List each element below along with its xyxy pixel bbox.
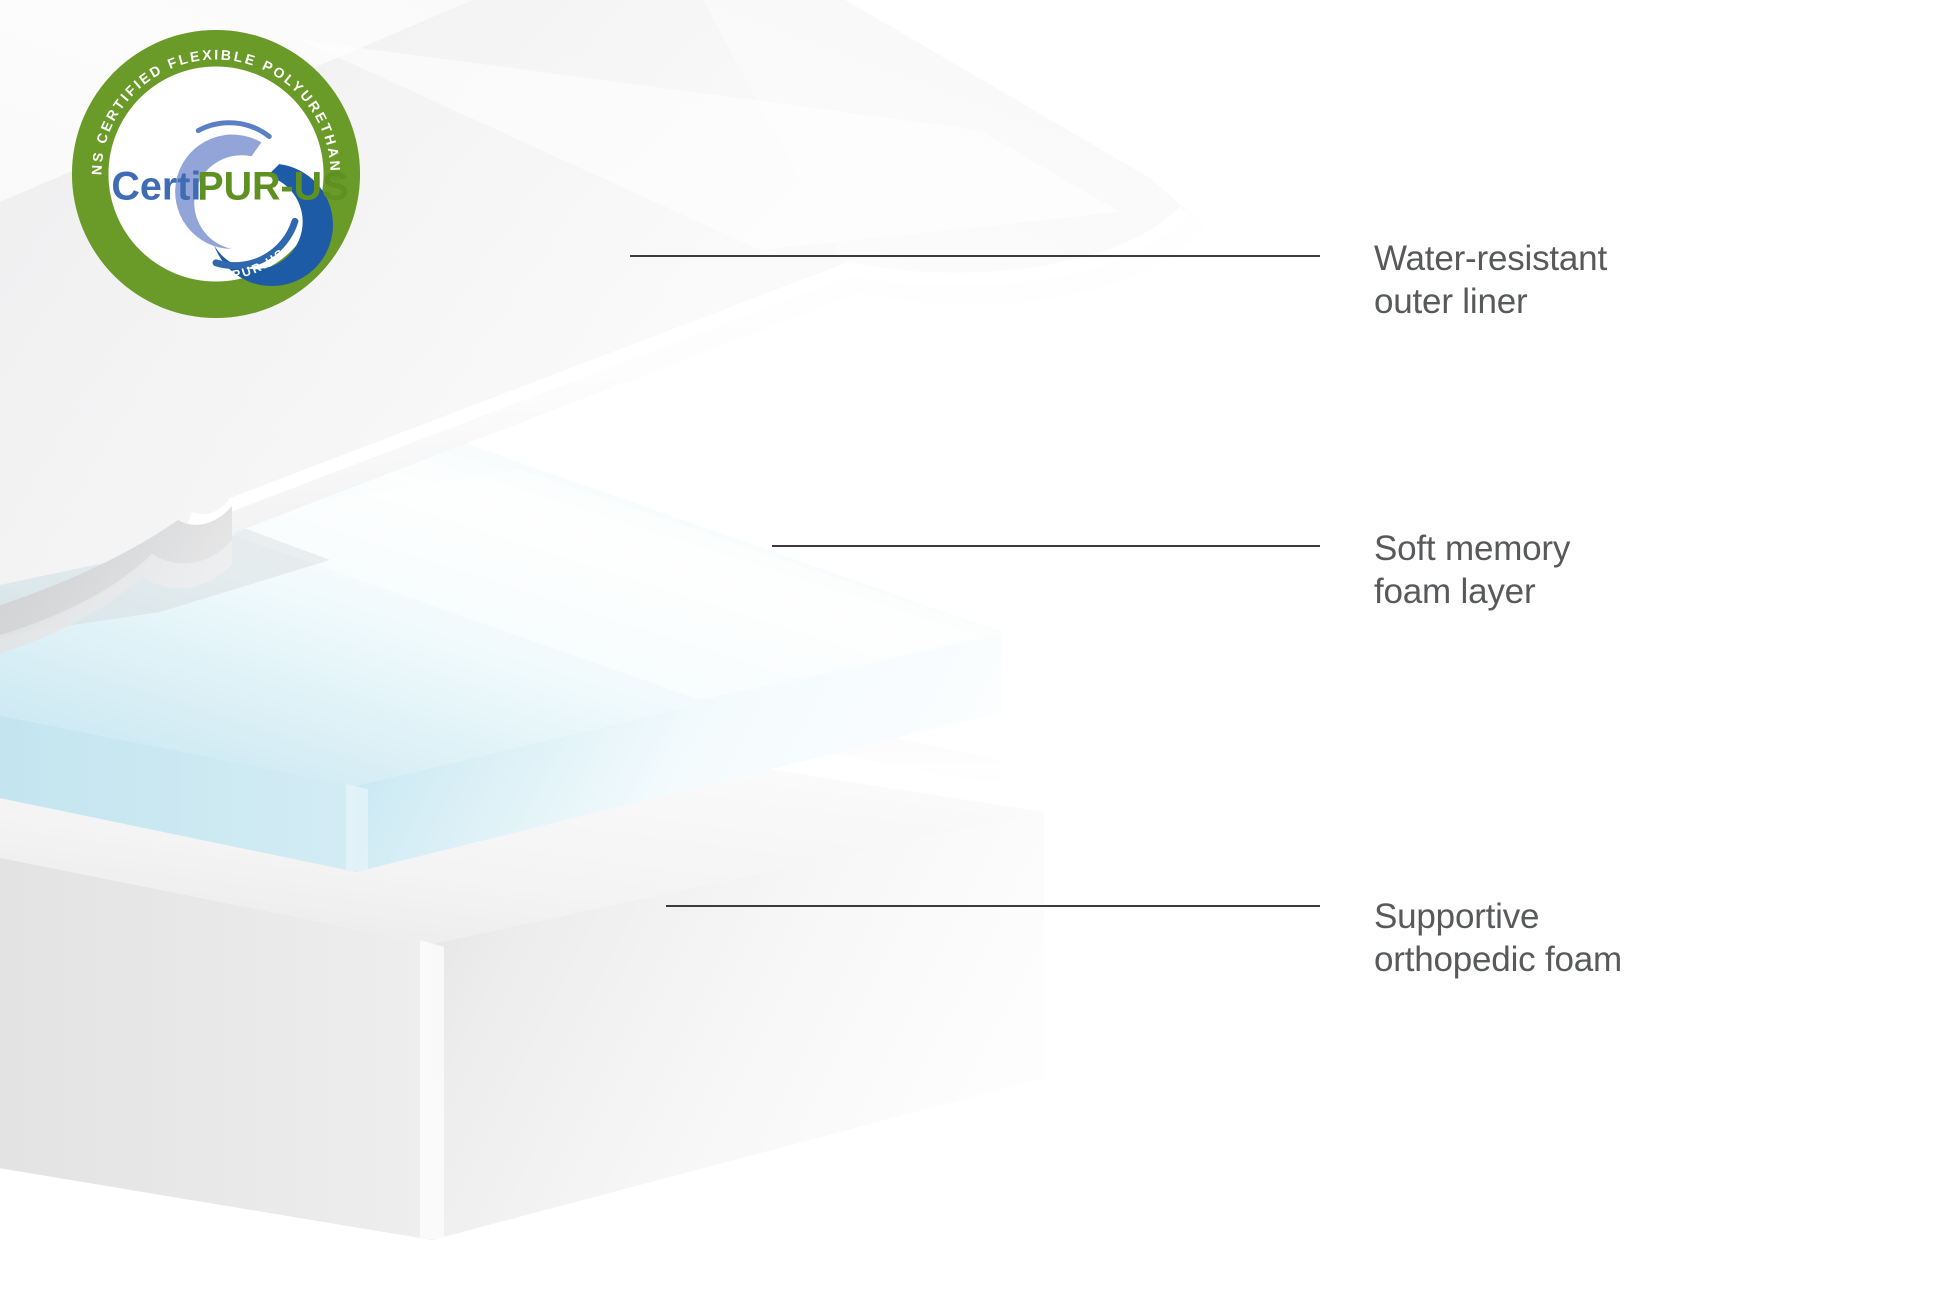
orthopedic-foam-corner-highlight bbox=[420, 940, 444, 1240]
certipur-us-seal: Certi PUR-US ® CONTAINS CERTIFIED FLEXIB… bbox=[68, 26, 364, 322]
seal-wordmark: Certi PUR-US ® bbox=[111, 165, 348, 209]
callout-label-supportive-orthopedic-foam: Supportive orthopedic foam bbox=[1374, 896, 1622, 981]
diagram-canvas: Certi PUR-US ® CONTAINS CERTIFIED FLEXIB… bbox=[0, 0, 1946, 1298]
callout-label-water-resistant-outer-liner: Water-resistant outer liner bbox=[1374, 238, 1607, 323]
seal-wordmark-certi: Certi bbox=[111, 165, 201, 209]
seal-wordmark-pur-us: PUR-US bbox=[197, 165, 348, 209]
callout-label-soft-memory-foam-layer: Soft memory foam layer bbox=[1374, 528, 1570, 613]
memory-foam-corner-bevel bbox=[346, 784, 368, 872]
